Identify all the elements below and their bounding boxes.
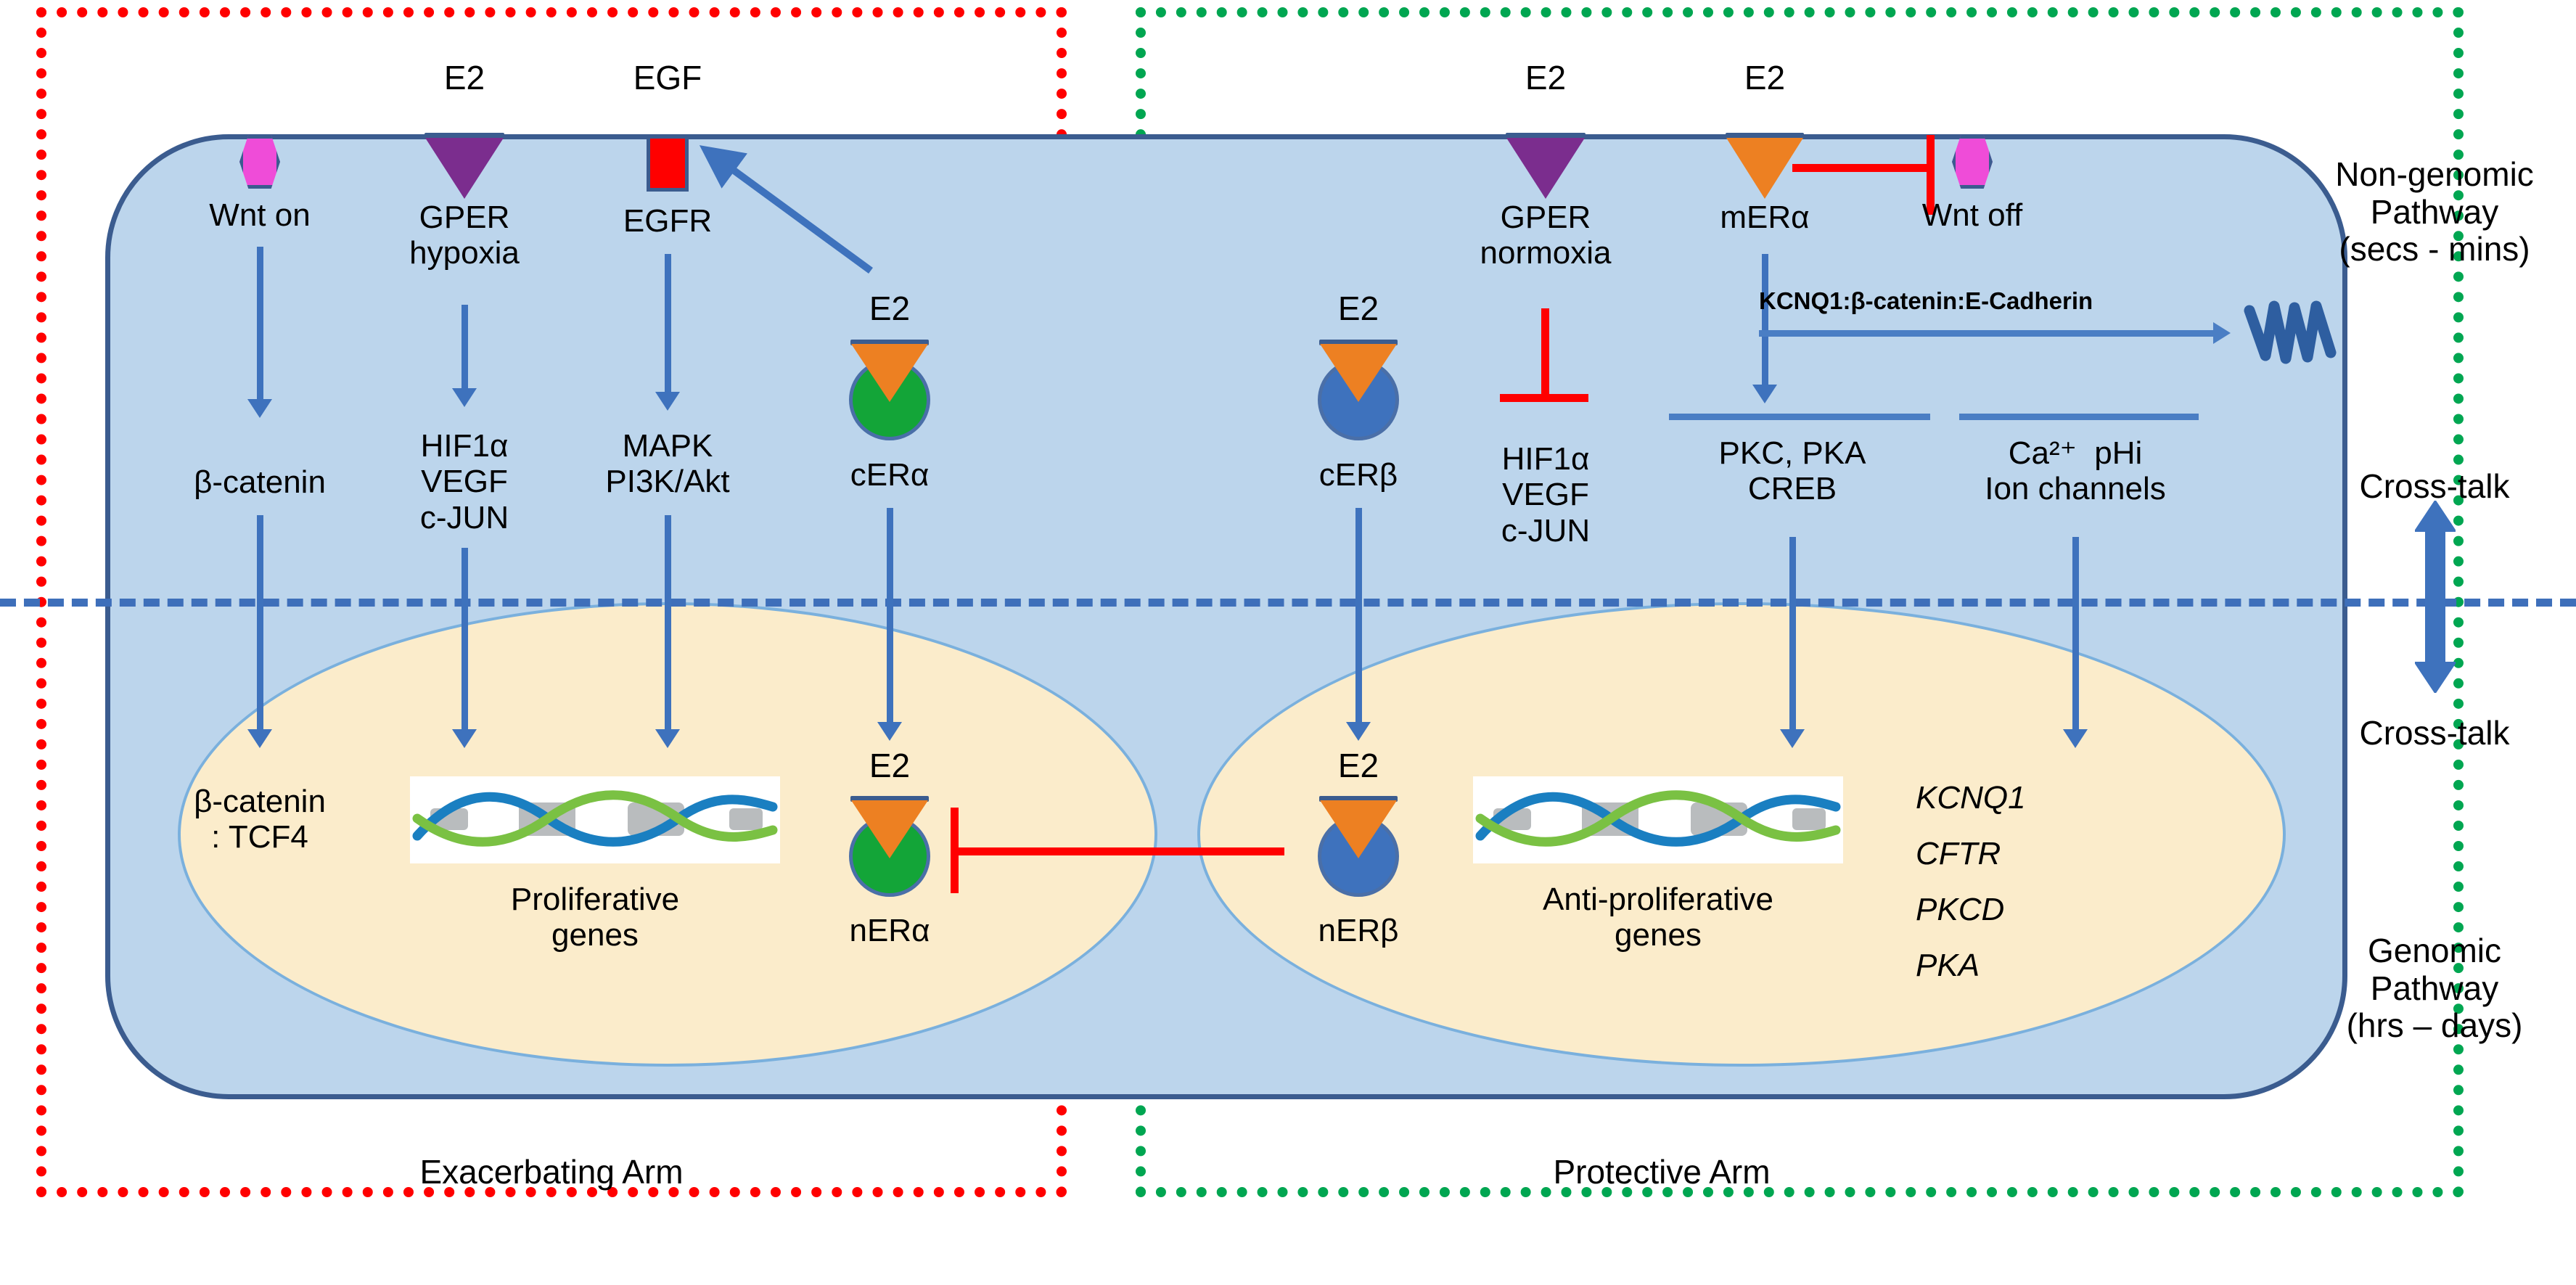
pathway-diagram-canvas: Wnt on β-catenin E2 GPER hypoxia HIF1α V… xyxy=(0,0,2576,1285)
cerb-e2-triangle-icon xyxy=(1320,344,1397,402)
pkc-pka-bracket-line xyxy=(1669,414,1930,420)
e2-label-gper-normoxia: E2 xyxy=(1525,59,1566,97)
protective-arm-label: Protective Arm xyxy=(1553,1154,1770,1191)
proliferative-genes-label: Proliferative genes xyxy=(511,882,679,953)
gper-hypoxia-arrow-shaft xyxy=(462,305,468,392)
ca-ph-arrow-head xyxy=(2063,729,2088,748)
e2-label-gper-hypoxia: E2 xyxy=(444,59,485,97)
gper-hif-inhibition-bar xyxy=(1500,394,1588,402)
mapk-arrow-shaft xyxy=(665,515,671,733)
target-gene-pkcd: PKCD xyxy=(1916,892,2004,927)
dna-helix-left-icon xyxy=(410,776,780,863)
egf-label: EGF xyxy=(633,59,702,97)
nera-label: nERα xyxy=(849,913,930,948)
mera-label: mERα xyxy=(1720,200,1809,235)
hif1a-vegf-cjun-right-label: HIF1α VEGF c-JUN xyxy=(1501,441,1590,549)
egfr-transactivation-arrow xyxy=(697,141,885,279)
crosstalk-bottom-label: Cross-talk xyxy=(2359,715,2509,752)
gper-hypoxia-arrow-head xyxy=(452,388,477,407)
mera-arrow-head xyxy=(1752,385,1777,403)
e2-label-nerb: E2 xyxy=(1338,747,1379,785)
e2-label-cera: E2 xyxy=(869,290,910,328)
mapk-pi3k-akt-label: MAPK PI3K/Akt xyxy=(605,428,729,500)
dna-helix-right-icon xyxy=(1473,776,1843,863)
cerb-label: cERβ xyxy=(1319,457,1398,493)
cerb-arrow-head xyxy=(1346,722,1371,741)
e2-label-nera: E2 xyxy=(869,747,910,785)
cera-label: cERα xyxy=(850,457,930,493)
wnt-arrow-shaft xyxy=(257,247,263,403)
crosstalk-top-label: Cross-talk xyxy=(2359,468,2509,506)
e2-label-cerb: E2 xyxy=(1338,290,1379,328)
gper-normoxia-receptor-icon xyxy=(1506,138,1585,199)
nerb-label: nERβ xyxy=(1318,913,1399,948)
pkc-pka-arrow-head xyxy=(1780,729,1805,748)
nera-nerb-inhibition-line xyxy=(951,847,1284,855)
hif-left-arrow-shaft xyxy=(462,548,468,733)
gper-hypoxia-receptor-icon xyxy=(425,138,504,199)
mapk-arrow-head xyxy=(655,729,680,748)
wnt-off-label: Wnt off xyxy=(1922,197,2023,233)
egfr-receptor-icon xyxy=(647,135,689,192)
kcnq1-transport-arrow-shaft xyxy=(1759,330,2216,337)
cera-arrow-head xyxy=(877,722,902,741)
nera-e2-triangle-icon xyxy=(851,800,928,858)
target-gene-pka: PKA xyxy=(1916,948,1980,983)
hif-left-arrow-head xyxy=(452,729,477,748)
wnt-arrow-head xyxy=(247,399,272,418)
beta-catenin-arrow-head xyxy=(247,729,272,748)
beta-catenin-cytoplasm-label: β-catenin xyxy=(194,464,326,500)
non-genomic-pathway-label: Non-genomic Pathway (secs - mins) xyxy=(2335,156,2534,268)
nera-nerb-inhibition-bar xyxy=(951,808,959,893)
anti-proliferative-genes-label: Anti-proliferative genes xyxy=(1543,882,1773,953)
cerb-arrow-shaft xyxy=(1355,508,1362,726)
e2-label-mera: E2 xyxy=(1744,59,1785,97)
gper-hypoxia-label: GPER hypoxia xyxy=(409,200,520,271)
mera-wnt-inhibition-line xyxy=(1792,164,1934,172)
cera-e2-triangle-icon xyxy=(851,344,928,402)
gper-hif-inhibition-shaft xyxy=(1541,308,1549,399)
egfr-arrow-shaft xyxy=(665,254,671,395)
exacerbating-arm-label: Exacerbating Arm xyxy=(419,1154,683,1191)
gper-normoxia-label: GPER normoxia xyxy=(1480,200,1612,271)
genomic-nongenomic-divider xyxy=(0,599,2576,607)
cera-arrow-shaft xyxy=(887,508,893,726)
kcnq1-complex-label: KCNQ1:β-catenin:E-Cadherin xyxy=(1759,288,2093,315)
beta-catenin-tcf4-label: β-catenin : TCF4 xyxy=(194,784,326,855)
nerb-e2-triangle-icon xyxy=(1320,800,1397,858)
pkc-pka-arrow-shaft xyxy=(1789,537,1796,733)
mera-arrow-shaft xyxy=(1762,254,1768,388)
genomic-pathway-label: Genomic Pathway (hrs – days) xyxy=(2347,932,2523,1045)
target-gene-cftr: CFTR xyxy=(1916,836,2001,871)
ca-phi-ion-channels-label: Ca²⁺ pHi Ion channels xyxy=(1985,435,2166,507)
crosstalk-double-arrow-icon xyxy=(2415,501,2456,693)
egfr-arrow-head xyxy=(655,392,680,411)
hif1a-vegf-cjun-left-label: HIF1α VEGF c-JUN xyxy=(420,428,509,535)
kcnq1-transport-arrow-head xyxy=(2213,322,2231,344)
pkc-pka-creb-label: PKC, PKA CREB xyxy=(1719,435,1866,507)
ca-ph-bracket-line xyxy=(1959,414,2199,420)
beta-catenin-arrow-shaft xyxy=(257,515,263,733)
ca-ph-arrow-shaft xyxy=(2072,537,2079,733)
ion-channel-icon xyxy=(2241,289,2350,376)
wnt-on-label: Wnt on xyxy=(209,197,310,233)
target-gene-kcnq1: KCNQ1 xyxy=(1916,780,2026,816)
